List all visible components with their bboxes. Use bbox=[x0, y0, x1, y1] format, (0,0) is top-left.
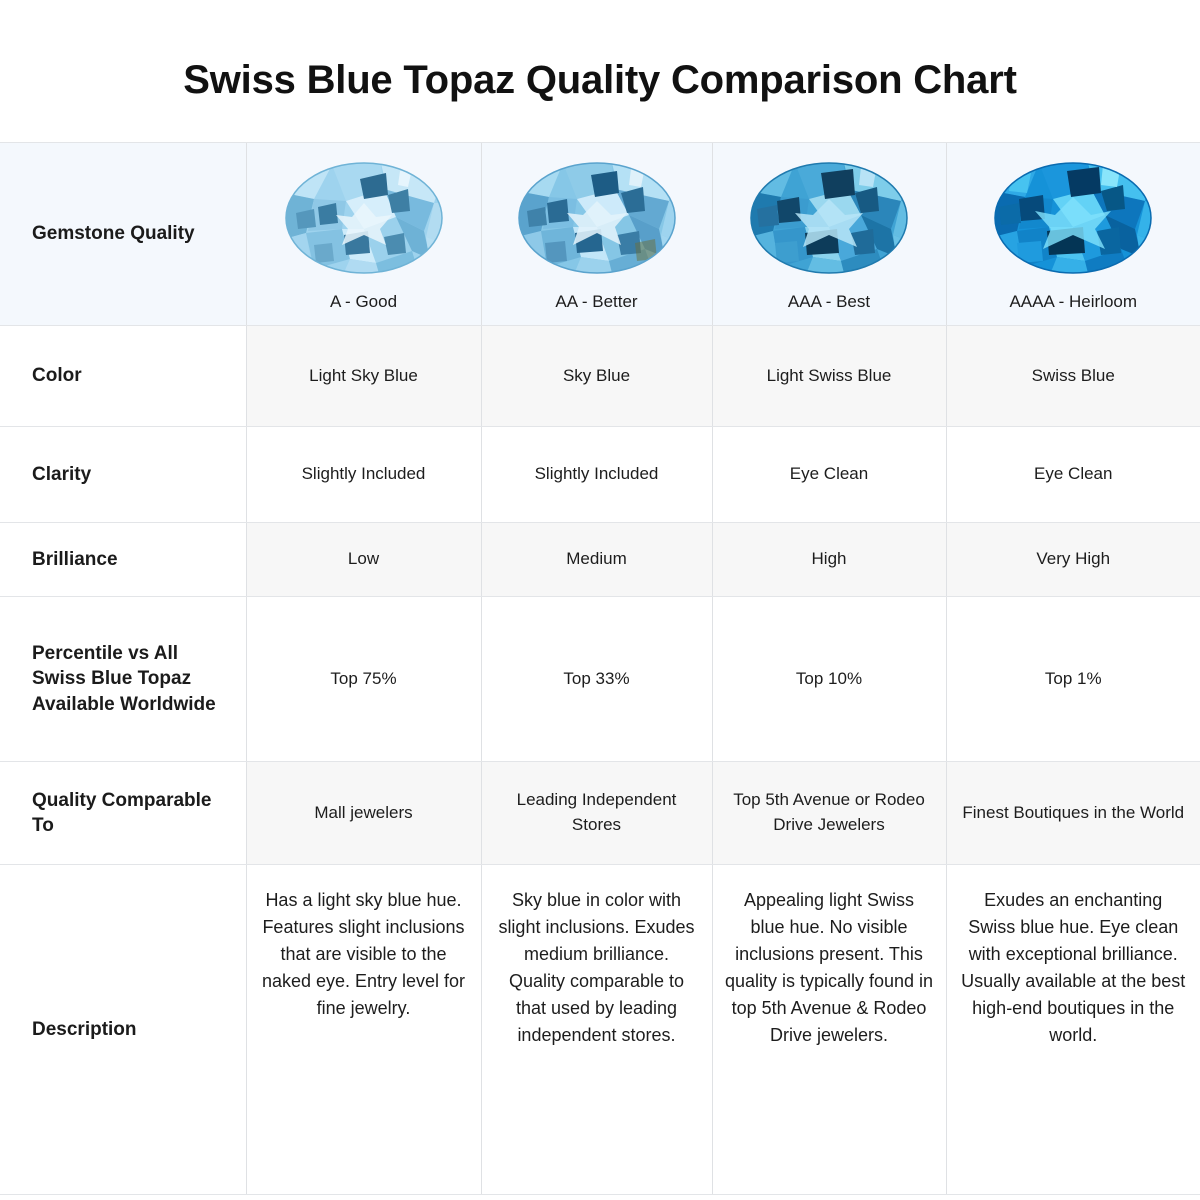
row-label-brilliance: Brilliance bbox=[0, 523, 246, 597]
brilliance-cell-aaa: High bbox=[712, 523, 946, 597]
cell-value: Light Sky Blue bbox=[259, 364, 469, 389]
cell-value: Slightly Included bbox=[259, 462, 469, 487]
cell-value: Very High bbox=[959, 547, 1189, 572]
cell-value: Top 33% bbox=[494, 667, 700, 692]
cell-value: Top 75% bbox=[259, 667, 469, 692]
table-row-clarity: Clarity Slightly Included Slightly Inclu… bbox=[0, 427, 1200, 523]
brilliance-cell-a: Low bbox=[246, 523, 481, 597]
row-label-gemstone-quality: Gemstone Quality bbox=[0, 143, 246, 326]
comparable-cell-aaa: Top 5th Avenue or Rodeo Drive Jewelers bbox=[712, 762, 946, 865]
comparable-cell-a: Mall jewelers bbox=[246, 762, 481, 865]
percentile-cell-aaaa: Top 1% bbox=[946, 597, 1200, 762]
clarity-cell-aaaa: Eye Clean bbox=[946, 427, 1200, 523]
cell-value: Leading Independent Stores bbox=[494, 788, 700, 837]
cell-value: Top 1% bbox=[959, 667, 1189, 692]
row-label-color: Color bbox=[0, 326, 246, 427]
cell-value: Appealing light Swiss blue hue. No visib… bbox=[725, 887, 934, 1049]
cell-value: Slightly Included bbox=[494, 462, 700, 487]
cell-value: Mall jewelers bbox=[259, 801, 469, 826]
oval-gemstone-icon bbox=[993, 159, 1153, 277]
description-cell-a: Has a light sky blue hue. Features sligh… bbox=[246, 865, 481, 1195]
row-label-clarity: Clarity bbox=[0, 427, 246, 523]
clarity-cell-aa: Slightly Included bbox=[481, 427, 712, 523]
color-cell-aa: Sky Blue bbox=[481, 326, 712, 427]
comparison-chart-page: Swiss Blue Topaz Quality Comparison Char… bbox=[0, 0, 1200, 1200]
grade-label: AAA - Best bbox=[788, 291, 870, 313]
cell-value: Eye Clean bbox=[959, 462, 1189, 487]
table-row-brilliance: Brilliance Low Medium High Very High bbox=[0, 523, 1200, 597]
color-cell-a: Light Sky Blue bbox=[246, 326, 481, 427]
row-label-description: Description bbox=[0, 865, 246, 1195]
percentile-cell-a: Top 75% bbox=[246, 597, 481, 762]
row-label-comparable: Quality Comparable To bbox=[0, 762, 246, 865]
cell-value: High bbox=[725, 547, 934, 572]
table-row-percentile: Percentile vs All Swiss Blue Topaz Avail… bbox=[0, 597, 1200, 762]
cell-value: Sky Blue bbox=[494, 364, 700, 389]
clarity-cell-a: Slightly Included bbox=[246, 427, 481, 523]
description-cell-aaa: Appealing light Swiss blue hue. No visib… bbox=[712, 865, 946, 1195]
table-row-gemstone-quality: Gemstone Quality bbox=[0, 143, 1200, 326]
comparable-cell-aaaa: Finest Boutiques in the World bbox=[946, 762, 1200, 865]
clarity-cell-aaa: Eye Clean bbox=[712, 427, 946, 523]
cell-value: Sky blue in color with slight inclusions… bbox=[494, 887, 700, 1049]
gemstone-cell-aaa: AAA - Best bbox=[712, 143, 946, 326]
oval-gemstone-icon bbox=[749, 159, 909, 277]
percentile-cell-aa: Top 33% bbox=[481, 597, 712, 762]
cell-value: Exudes an enchanting Swiss blue hue. Eye… bbox=[959, 887, 1189, 1049]
cell-value: Top 10% bbox=[725, 667, 934, 692]
row-label-percentile: Percentile vs All Swiss Blue Topaz Avail… bbox=[0, 597, 246, 762]
comparable-cell-aa: Leading Independent Stores bbox=[481, 762, 712, 865]
color-cell-aaa: Light Swiss Blue bbox=[712, 326, 946, 427]
page-title: Swiss Blue Topaz Quality Comparison Char… bbox=[0, 0, 1200, 104]
grade-label: A - Good bbox=[330, 291, 397, 313]
percentile-cell-aaa: Top 10% bbox=[712, 597, 946, 762]
gemstone-cell-a: A - Good bbox=[246, 143, 481, 326]
cell-value: Medium bbox=[494, 547, 700, 572]
cell-value: Light Swiss Blue bbox=[725, 364, 934, 389]
cell-value: Finest Boutiques in the World bbox=[959, 801, 1189, 826]
brilliance-cell-aaaa: Very High bbox=[946, 523, 1200, 597]
oval-gemstone-icon bbox=[284, 159, 444, 277]
color-cell-aaaa: Swiss Blue bbox=[946, 326, 1200, 427]
table-row-comparable: Quality Comparable To Mall jewelers Lead… bbox=[0, 762, 1200, 865]
cell-value: Has a light sky blue hue. Features sligh… bbox=[259, 887, 469, 1022]
quality-comparison-table: Gemstone Quality bbox=[0, 142, 1200, 1195]
cell-value: Top 5th Avenue or Rodeo Drive Jewelers bbox=[725, 788, 934, 837]
description-cell-aa: Sky blue in color with slight inclusions… bbox=[481, 865, 712, 1195]
description-cell-aaaa: Exudes an enchanting Swiss blue hue. Eye… bbox=[946, 865, 1200, 1195]
gemstone-cell-aa: AA - Better bbox=[481, 143, 712, 326]
oval-gemstone-icon bbox=[517, 159, 677, 277]
table-row-description: Description Has a light sky blue hue. Fe… bbox=[0, 865, 1200, 1195]
cell-value: Low bbox=[259, 547, 469, 572]
cell-value: Eye Clean bbox=[725, 462, 934, 487]
grade-label: AAAA - Heirloom bbox=[1009, 291, 1137, 313]
table-row-color: Color Light Sky Blue Sky Blue Light Swis… bbox=[0, 326, 1200, 427]
cell-value: Swiss Blue bbox=[959, 364, 1189, 389]
brilliance-cell-aa: Medium bbox=[481, 523, 712, 597]
gemstone-cell-aaaa: AAAA - Heirloom bbox=[946, 143, 1200, 326]
grade-label: AA - Better bbox=[555, 291, 637, 313]
